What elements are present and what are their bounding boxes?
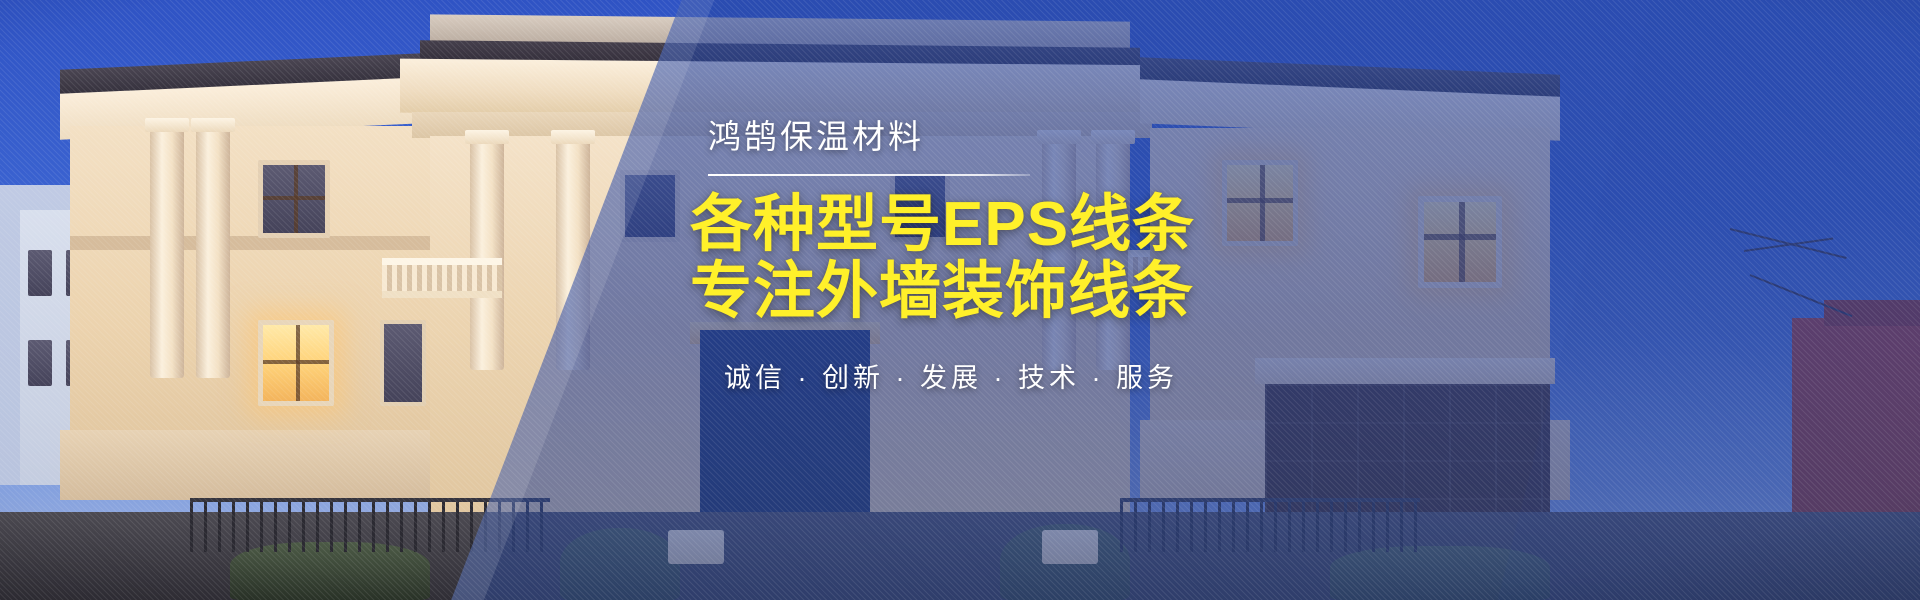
brand-name: 鸿鹄保温材料 — [708, 110, 1330, 158]
left-wing-base — [60, 430, 490, 500]
column-left-1 — [150, 128, 184, 378]
column-capital-center-2 — [551, 130, 595, 144]
balustrade-left — [382, 258, 502, 298]
window-far-left-3 — [28, 340, 52, 386]
column-center-1 — [470, 140, 504, 370]
left-wing-string-course — [70, 236, 480, 250]
window-left-lower-2 — [380, 320, 426, 406]
window-left-upper — [258, 160, 330, 238]
headline-line-2: 专注外墙装饰线条 — [690, 259, 1330, 326]
column-capital-center-1 — [465, 130, 509, 144]
headline-line-1: 各种型号EPS线条 — [690, 192, 1330, 259]
tagline: 诚信 · 创新 · 发展 · 技术 · 服务 — [724, 356, 1330, 395]
headline: 各种型号EPS线条 专注外墙装饰线条 — [690, 192, 1330, 326]
window-left-lower-lit — [258, 320, 334, 406]
window-far-left-1 — [28, 250, 52, 296]
banner-copy-block: 鸿鹄保温材料 各种型号EPS线条 专注外墙装饰线条 诚信 · 创新 · 发展 ·… — [690, 110, 1330, 395]
hero-banner: 鸿鹄保温材料 各种型号EPS线条 专注外墙装饰线条 诚信 · 创新 · 发展 ·… — [0, 0, 1920, 600]
column-capital-left-1 — [145, 118, 189, 132]
divider-rule — [708, 174, 1030, 176]
column-left-2 — [196, 128, 230, 378]
column-capital-left-2 — [191, 118, 235, 132]
